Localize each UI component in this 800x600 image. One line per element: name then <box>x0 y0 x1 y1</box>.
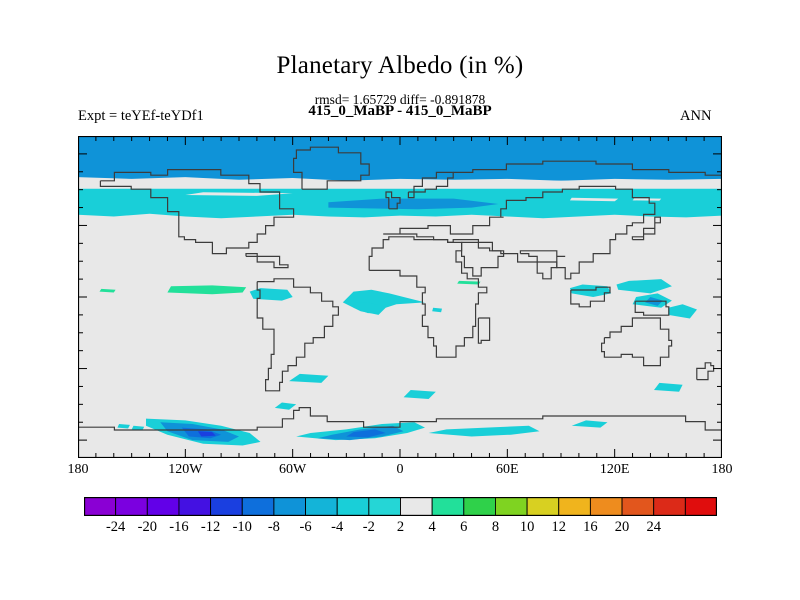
colorbar-cell <box>179 498 211 516</box>
colorbar <box>84 497 717 516</box>
colorbar-cell <box>685 498 717 516</box>
colorbar-cell <box>116 498 148 516</box>
colorbar-tick-label: -6 <box>300 519 312 536</box>
colorbar-cell <box>464 498 496 516</box>
colorbar-svg <box>84 497 717 516</box>
x-axis-tick-label: 0 <box>397 462 404 478</box>
colorbar-cell <box>306 498 338 516</box>
colorbar-cell <box>654 498 686 516</box>
colorbar-tick-label: 16 <box>583 519 598 536</box>
colorbar-cell <box>495 498 527 516</box>
colorbar-cell <box>559 498 591 516</box>
equatorial-pacific-green-patch <box>167 285 246 294</box>
season-label: ANN <box>680 108 711 125</box>
x-axis-tick-label: 180 <box>68 462 89 478</box>
colorbar-cell <box>211 498 243 516</box>
colorbar-tick-label: -24 <box>106 519 125 536</box>
colorbar-tick-label: -12 <box>201 519 220 536</box>
tropical-atlantic-cyan-patch <box>250 288 293 301</box>
colorbar-cell <box>401 498 433 516</box>
colorbar-cell <box>337 498 369 516</box>
colorbar-tick-label: -8 <box>268 519 280 536</box>
colorbar-tick-label: -20 <box>138 519 157 536</box>
colorbar-cell <box>527 498 559 516</box>
contour-map-svg <box>78 136 722 458</box>
colorbar-tick-label: -2 <box>363 519 375 536</box>
colorbar-cell <box>432 498 464 516</box>
north-neutral-streak-b <box>633 198 662 201</box>
colorbar-tick-label: -4 <box>331 519 343 536</box>
colorbar-tick-label: 10 <box>520 519 535 536</box>
map-plot-area <box>78 136 722 458</box>
colorbar-cell <box>147 498 179 516</box>
x-axis-tick-label: 120W <box>168 462 202 478</box>
colorbar-tick-label: 8 <box>492 519 499 536</box>
colorbar-cell <box>622 498 654 516</box>
x-axis-tick-label: 60W <box>279 462 306 478</box>
experiment-label: Expt = teYEf-teYDf1 <box>78 108 204 125</box>
colorbar-tick-label: 2 <box>397 519 404 536</box>
colorbar-tick-label: -10 <box>233 519 252 536</box>
figure-canvas: Planetary Albedo (in %) rmsd= 1.65729 di… <box>0 0 800 600</box>
antarctic-neutral-south-edge <box>132 447 329 458</box>
colorbar-tick-label: 6 <box>460 519 467 536</box>
x-axis-tick-label: 60E <box>496 462 519 478</box>
colorbar-tick-label: -16 <box>169 519 188 536</box>
colorbar-cell <box>274 498 306 516</box>
colorbar-tick-label: 12 <box>552 519 567 536</box>
page-title: Planetary Albedo (in %) <box>0 52 800 80</box>
colorbar-cell <box>84 498 116 516</box>
x-axis-tick-label: 120E <box>600 462 630 478</box>
colorbar-tick-label: 20 <box>615 519 630 536</box>
colorbar-tick-label: 4 <box>429 519 436 536</box>
x-axis-tick-label: 180 <box>712 462 733 478</box>
colorbar-cell <box>590 498 622 516</box>
colorbar-cell <box>242 498 274 516</box>
colorbar-cell <box>369 498 401 516</box>
colorbar-tick-label: 24 <box>646 519 661 536</box>
